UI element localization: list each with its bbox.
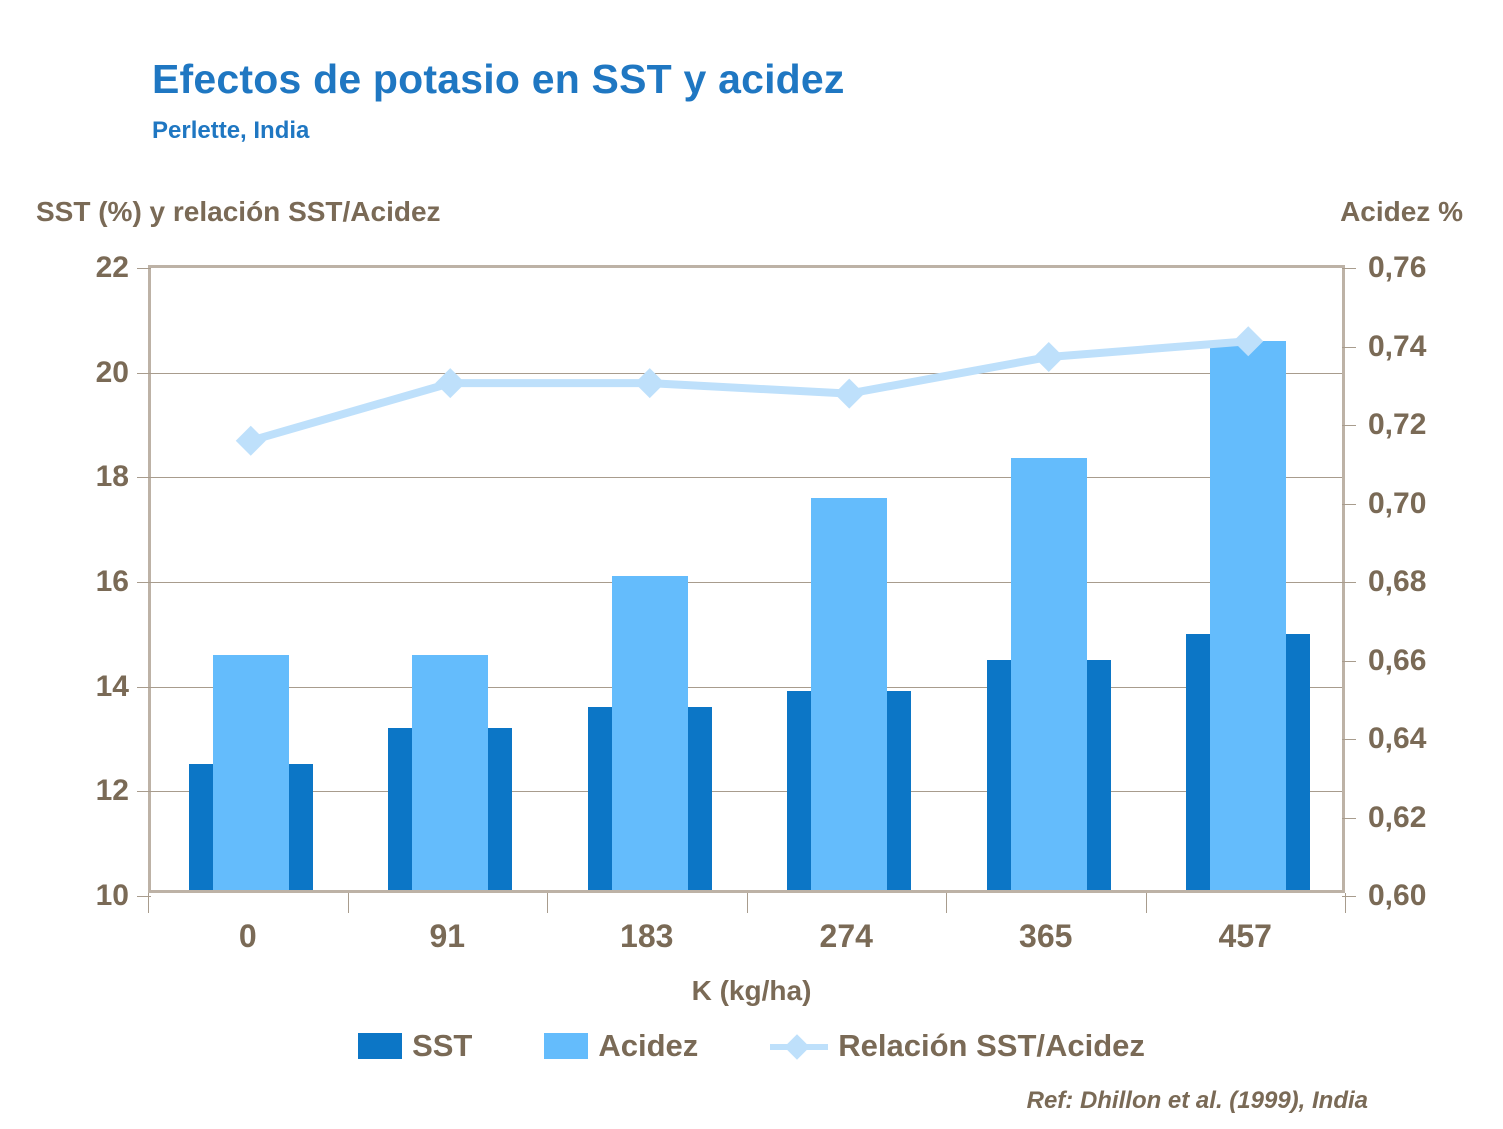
y-left-axis-title: SST (%) y relación SST/Acidez <box>36 196 441 228</box>
legend-label: SST <box>412 1028 472 1064</box>
y-right-tick-label: 0,70 <box>1368 487 1426 521</box>
x-axis-tick <box>1146 893 1147 913</box>
y-right-tick-label: 0,60 <box>1368 879 1426 913</box>
y-right-tick-label: 0,66 <box>1368 644 1426 678</box>
y-left-tick <box>137 582 151 583</box>
x-axis-tick-label: 457 <box>1219 918 1272 955</box>
x-axis-tick <box>148 893 149 913</box>
y-left-tick <box>137 791 151 792</box>
ratio-marker-diamond <box>1034 342 1064 372</box>
ratio-line-series <box>151 268 1348 896</box>
page-title: Efectos de potasio en SST y acidez <box>152 56 845 103</box>
x-axis-tick-label: 183 <box>620 918 673 955</box>
y-left-tick <box>137 687 151 688</box>
legend-item-3[interactable]: Relación SST/Acidez <box>770 1028 1145 1064</box>
x-axis-tick-label: 365 <box>1019 918 1072 955</box>
y-left-tick-label: 18 <box>96 460 129 494</box>
y-left-tick-label: 20 <box>96 356 129 390</box>
legend-swatch-icon <box>358 1033 402 1059</box>
x-axis-tick-label: 274 <box>820 918 873 955</box>
x-axis-ticks <box>148 893 1345 917</box>
y-right-tick-label: 0,74 <box>1368 330 1426 364</box>
x-axis-labels: 091183274365457 <box>148 918 1345 966</box>
ratio-marker-diamond <box>834 379 864 409</box>
page-subtitle: Perlette, India <box>152 117 309 145</box>
y-left-tick-label: 16 <box>96 565 129 599</box>
y-left-tick-label: 14 <box>96 670 129 704</box>
y-left-tick-label: 10 <box>96 879 129 913</box>
ratio-marker-diamond <box>635 368 665 398</box>
ratio-marker-diamond <box>435 368 465 398</box>
ratio-marker-diamond <box>236 426 266 456</box>
ratio-marker-diamond <box>1233 326 1263 356</box>
y-right-axis-title: Acidez % <box>1340 196 1463 228</box>
legend-item-1[interactable]: SST <box>358 1028 472 1064</box>
x-axis-tick-label: 91 <box>429 918 465 955</box>
legend-line-diamond-icon <box>770 1033 828 1059</box>
x-axis-tick <box>547 893 548 913</box>
x-axis-tick <box>348 893 349 913</box>
y-right-tick-label: 0,68 <box>1368 565 1426 599</box>
x-axis-title: K (kg/ha) <box>0 975 1503 1007</box>
legend-item-2[interactable]: Acidez <box>544 1028 698 1064</box>
y-left-tick <box>137 373 151 374</box>
y-left-tick-label: 12 <box>96 774 129 808</box>
y-right-tick-label: 0,76 <box>1368 251 1426 285</box>
y-right-tick-label: 0,64 <box>1368 722 1426 756</box>
legend-label: Relación SST/Acidez <box>838 1028 1145 1064</box>
ratio-line <box>251 341 1249 440</box>
x-axis-tick <box>1345 893 1346 913</box>
legend-label: Acidez <box>598 1028 698 1064</box>
chart-page: Efectos de potasio en SST y acidez Perle… <box>0 0 1503 1129</box>
y-left-tick <box>137 477 151 478</box>
y-left-tick <box>137 268 151 269</box>
plot-area: 222018161412100,760,740,720,700,680,660,… <box>148 265 1345 893</box>
legend-swatch-icon <box>544 1033 588 1059</box>
y-right-tick-label: 0,72 <box>1368 408 1426 442</box>
x-axis-tick-label: 0 <box>239 918 257 955</box>
y-right-tick-label: 0,62 <box>1368 801 1426 835</box>
y-left-tick-label: 22 <box>96 251 129 285</box>
x-axis-tick <box>747 893 748 913</box>
x-axis-tick <box>946 893 947 913</box>
chart-legend: SSTAcidezRelación SST/Acidez <box>0 1028 1503 1064</box>
source-note: Ref: Dhillon et al. (1999), India <box>1027 1087 1368 1115</box>
